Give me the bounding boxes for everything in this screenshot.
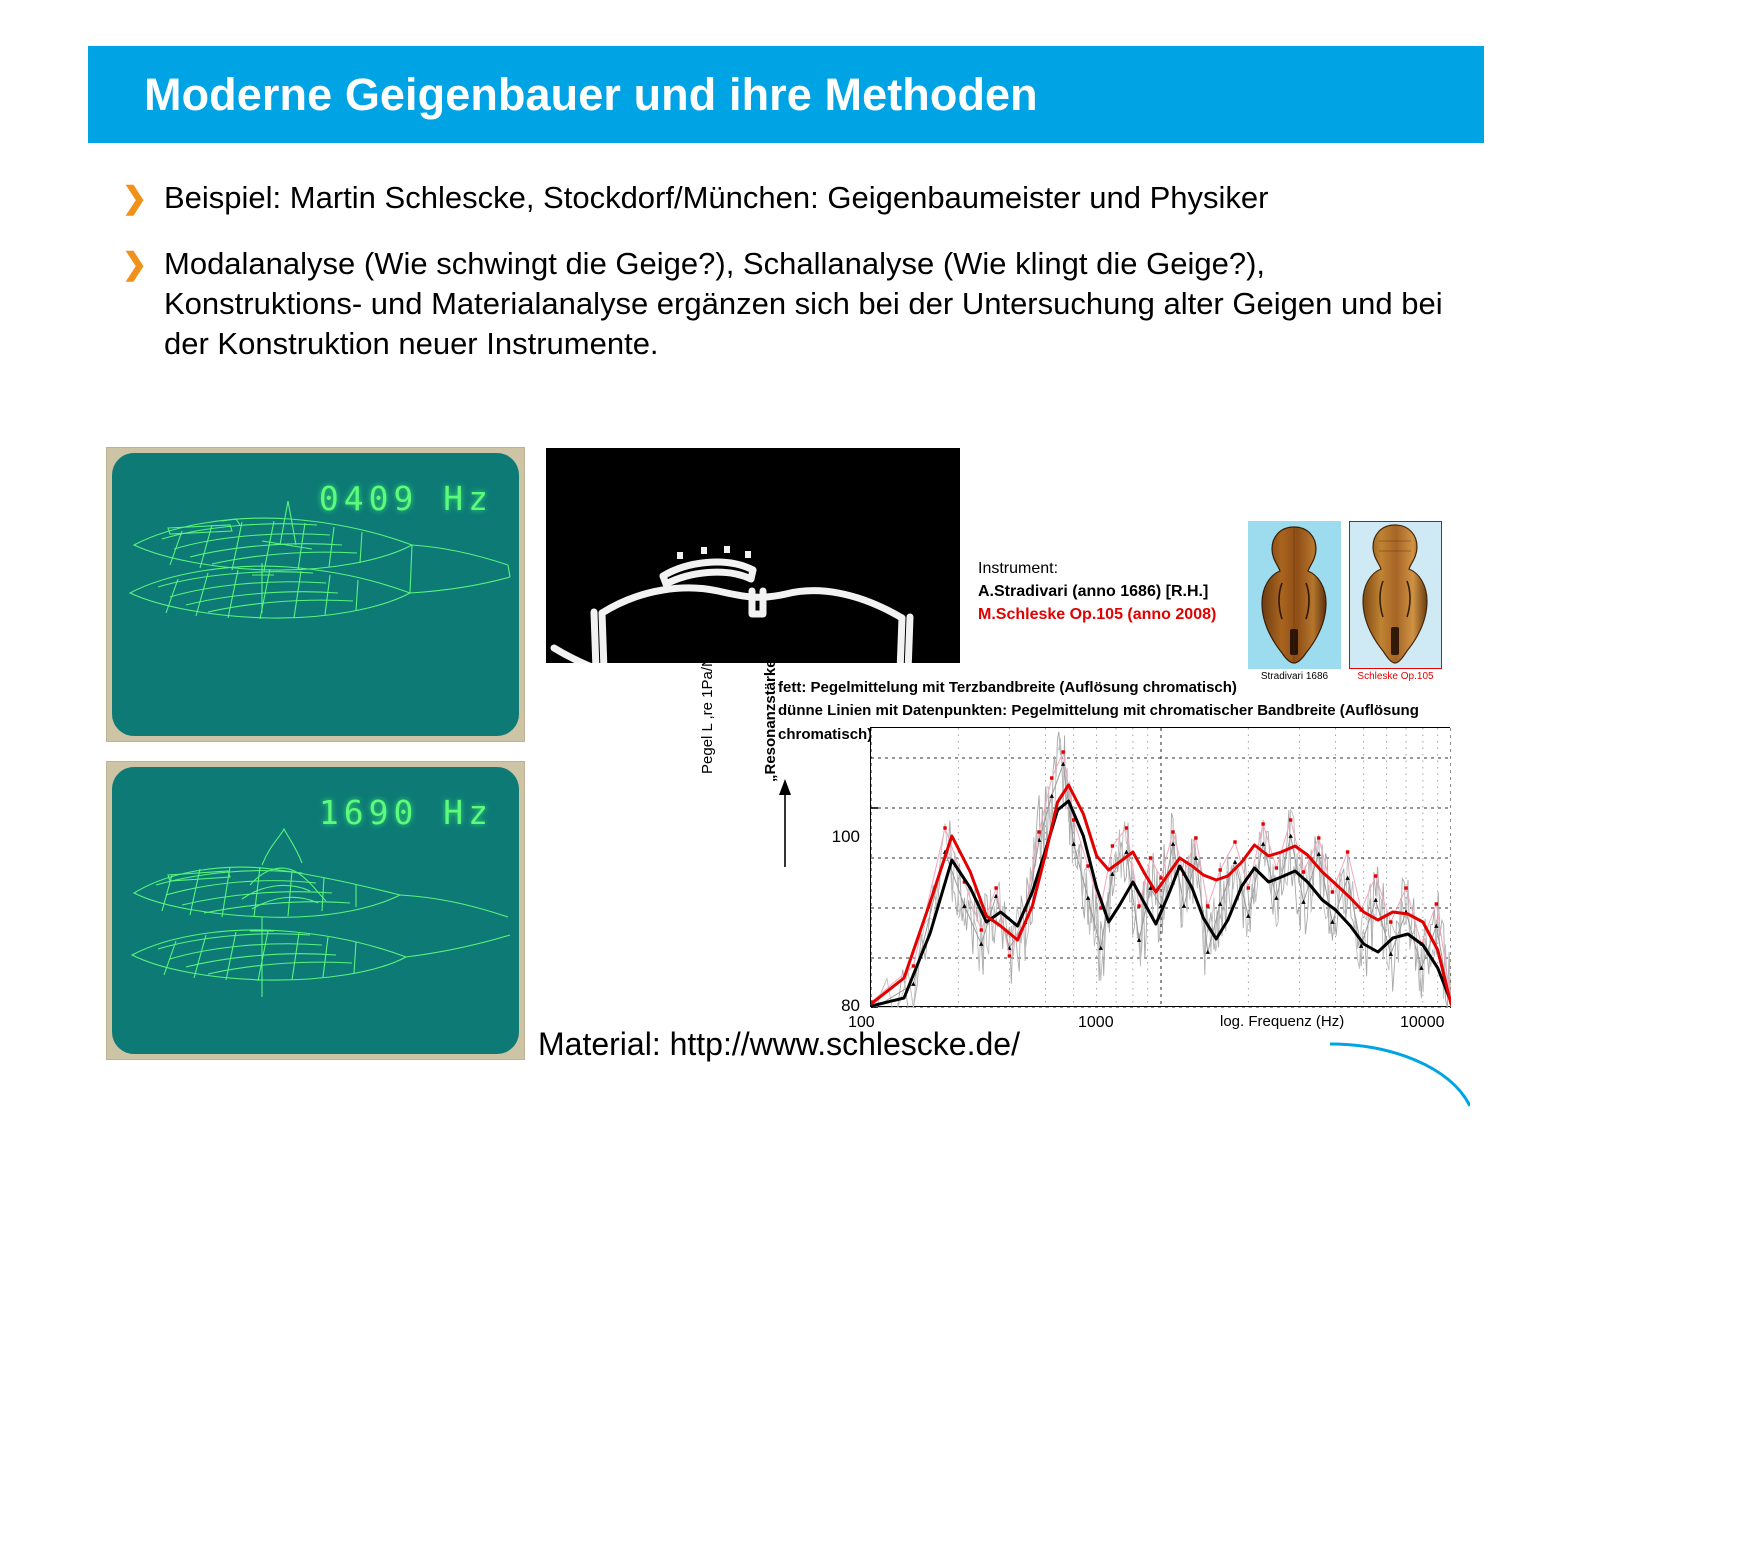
violin-photo-stradivari [1248,521,1341,669]
chevron-right-icon: ❯ [122,244,164,280]
bullet-text-1: Beispiel: Martin Schlescke, Stockdorf/Mü… [164,178,1462,218]
modal-analysis-image-bottom: 1690 Hz [107,762,524,1059]
instrument-heading: Instrument: [978,557,1238,580]
chart-series-canvas [871,728,1451,1008]
violin-bridge-icon [546,448,960,663]
chart-y-axis-label: Pegel L ,re 1Pa/N (dB) [699,544,716,774]
modal-analysis-image-top: 0409 Hz [107,448,524,741]
frequency-readout: 1690 Hz [319,793,493,832]
instrument-legend: Instrument: A.Stradivari (anno 1686) [R.… [978,557,1238,627]
chart-x-axis-label: log. Frequenz (Hz) [1220,1013,1344,1030]
up-arrow-icon [778,777,792,867]
violin-card-schleske: Schleske Op.105 [1349,521,1442,689]
chart-resonance-annotation: „Resonanzstärke“ [762,652,779,782]
chart-y-tick-80: 80 [820,996,860,1016]
violin-photo-pair: Stradivari 1686 [1248,521,1446,689]
crt-screen: 0409 Hz [112,453,519,736]
violin-card-stradivari: Stradivari 1686 [1248,521,1341,689]
frequency-readout: 0409 Hz [319,479,493,518]
chart-plot-area [870,727,1450,1007]
page-title: Moderne Geigenbauer und ihre Methoden [144,69,1038,121]
violin-body-icon [1248,521,1341,669]
violin-photo-schleske [1349,521,1442,669]
slide-title-bar: Moderne Geigenbauer und ihre Methoden [88,46,1484,143]
chart-caption-line-1: fett: Pegelmittelung mit Terzbandbreite … [778,676,1468,699]
corner-arc-decoration [1330,1040,1470,1110]
violin-body-icon [1349,521,1442,669]
bullet-text-2: Modalanalyse (Wie schwingt die Geige?), … [164,244,1462,364]
frequency-response-chart: Pegel L ,re 1Pa/N (dB) „Resonanzstärke“ … [700,722,1460,1042]
bullet-list: ❯ Beispiel: Martin Schlescke, Stockdorf/… [122,178,1462,390]
material-source-line: Material: http://www.schlescke.de/ [538,1026,1020,1063]
list-item: ❯ Beispiel: Martin Schlescke, Stockdorf/… [122,178,1462,218]
chart-x-tick-1000: 1000 [1078,1014,1114,1032]
chevron-right-icon: ❯ [122,178,164,214]
chart-x-tick-10000: 10000 [1400,1014,1445,1032]
chart-y-tick-100: 100 [820,827,860,847]
instrument-reference-label: A.Stradivari (anno 1686) [R.H.] [978,580,1238,603]
crt-screen: 1690 Hz [112,767,519,1054]
instrument-comparison-label: M.Schleske Op.105 (anno 2008) [978,603,1238,626]
list-item: ❯ Modalanalyse (Wie schwingt die Geige?)… [122,244,1462,364]
violin-bridge-outline-image [546,448,960,663]
